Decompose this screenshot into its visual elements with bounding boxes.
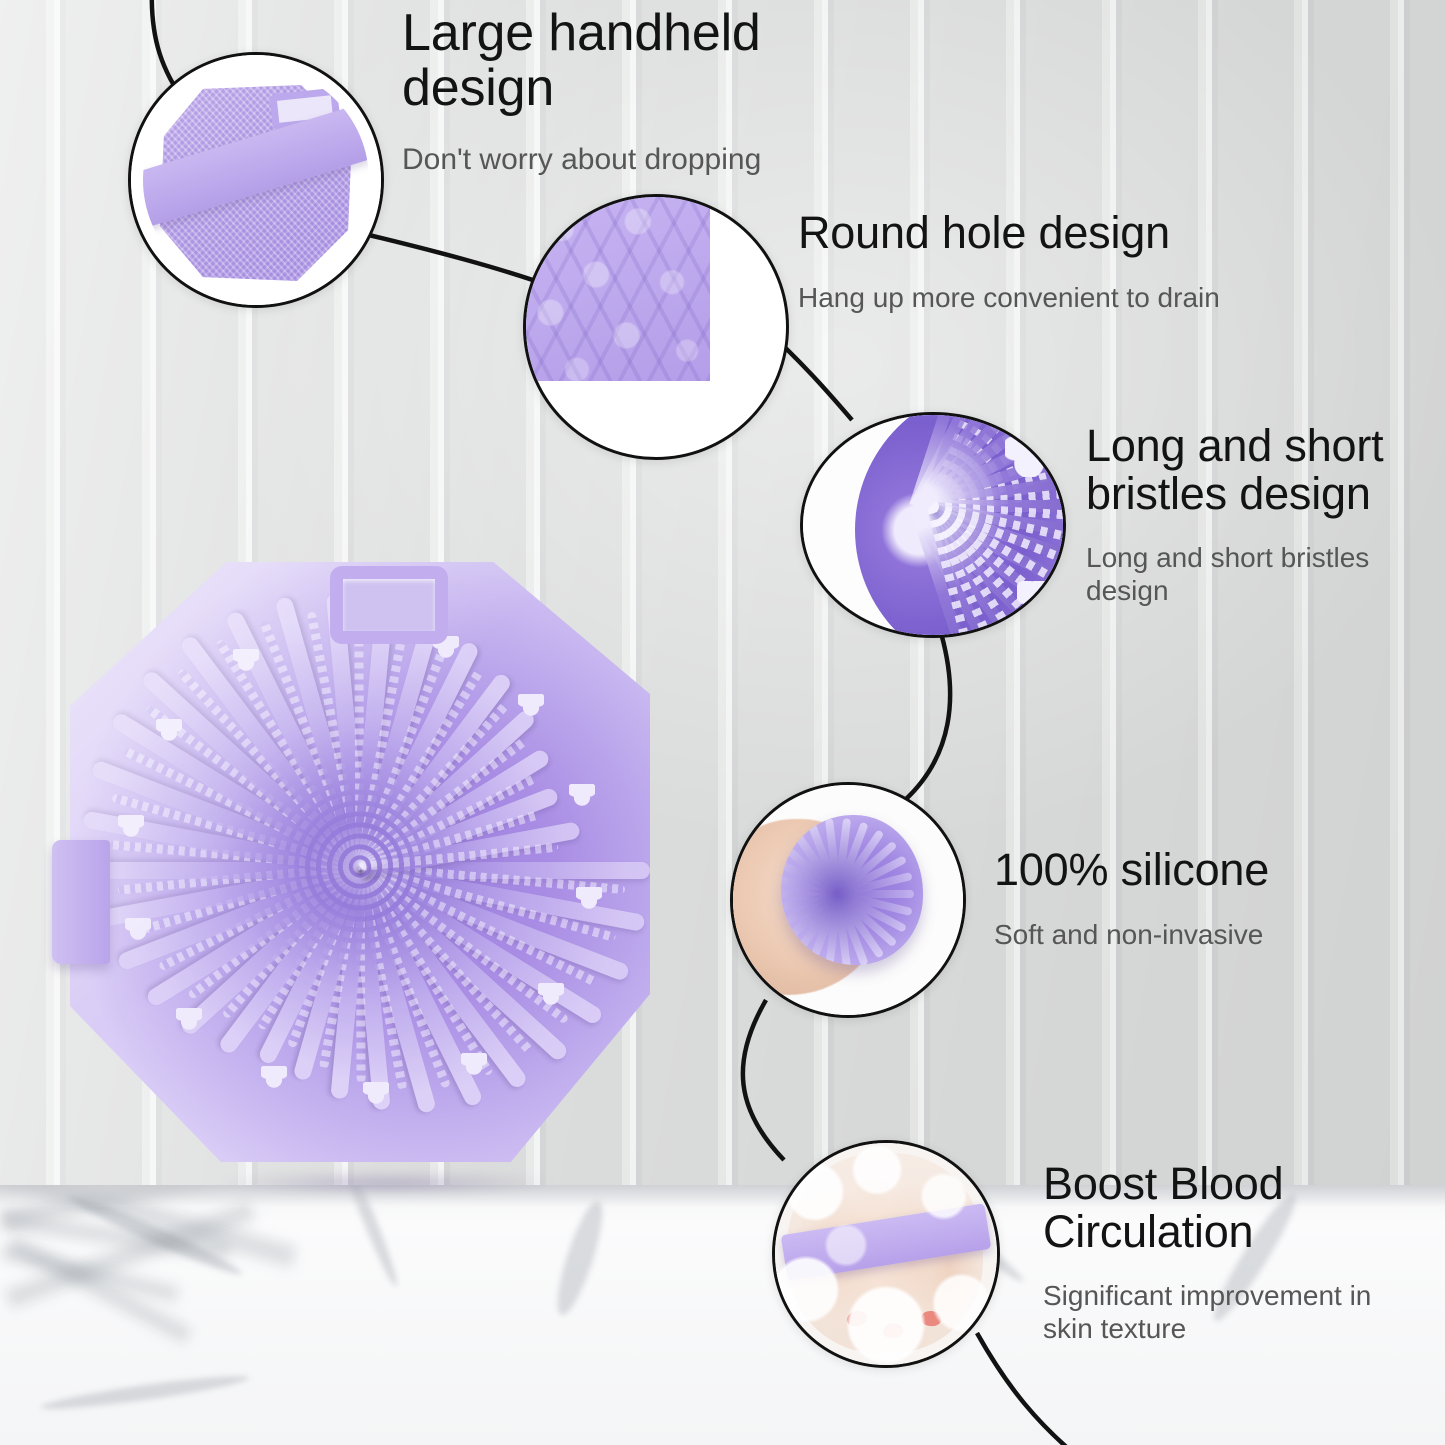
feature-image-100-percent-silicone [730, 782, 966, 1018]
round-hole-texture [523, 194, 710, 381]
callout-subtitle: Long and short bristles design [1086, 541, 1406, 607]
callout-100-percent-silicone: 100% silicone Soft and non-invasive [994, 846, 1394, 951]
feature-image-round-hole-design [523, 194, 789, 460]
product-highlight [70, 562, 650, 1162]
callout-title: Round hole design [798, 209, 1318, 257]
product-drop-shadow [152, 1168, 622, 1198]
infographic-canvas: Large handheld design Don't worry about … [0, 0, 1445, 1445]
flexed-brush [781, 815, 923, 965]
main-product-image [52, 540, 677, 1190]
callout-subtitle: Significant improvement in skin texture [1043, 1279, 1373, 1345]
callout-round-hole-design: Round hole design Hang up more convenien… [798, 209, 1318, 314]
feature-image-long-and-short-bristles-design [800, 412, 1066, 638]
callout-subtitle: Hang up more convenient to drain [798, 281, 1318, 314]
paw-nub [1017, 581, 1065, 621]
soap-suds [775, 1143, 997, 1365]
callout-title: Boost Blood Circulation [1043, 1160, 1373, 1255]
paw-nub [1005, 437, 1053, 477]
callout-boost-blood-circulation: Boost Blood Circulation Significant impr… [1043, 1160, 1373, 1345]
callout-title: Long and short bristles design [1086, 422, 1406, 517]
callout-title: 100% silicone [994, 846, 1394, 894]
callout-long-and-short-bristles-design: Long and short bristles design Long and … [1086, 422, 1406, 607]
callout-large-handheld-design: Large handheld design Don't worry about … [402, 6, 872, 178]
callout-subtitle: Don't worry about dropping [402, 142, 872, 177]
product-hand-strap [52, 840, 110, 964]
feature-image-large-handheld-design [128, 52, 384, 308]
feature-image-boost-blood-circulation [772, 1140, 1000, 1368]
product-hanging-hole [330, 566, 448, 644]
callout-subtitle: Soft and non-invasive [994, 918, 1394, 951]
bristle-macro [855, 412, 1066, 638]
callout-title: Large handheld design [402, 6, 872, 116]
